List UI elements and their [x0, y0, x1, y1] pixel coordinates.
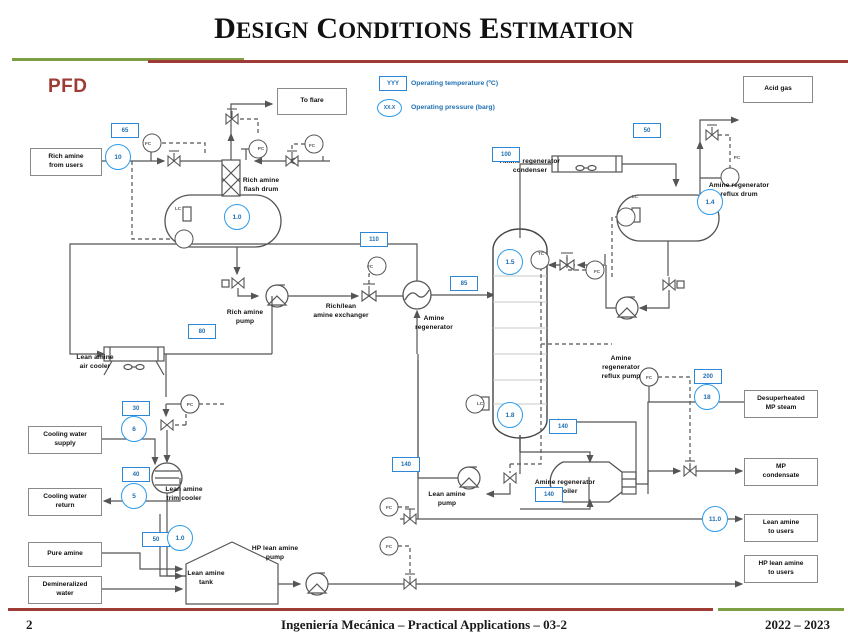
instrument-tag-pc-reflux-drum: PC — [730, 155, 744, 160]
equipment-label-lean-amine-tank: Lean aminetank — [161, 570, 251, 588]
footer-course: Ingeniería Mecánica – Practical Applicat… — [0, 617, 848, 633]
legend-press-symbol: XX.X — [377, 99, 402, 117]
pressure-tag-p-lean-amine-to-users: 11.0 — [702, 506, 728, 532]
instrument-tag-tc-regenerator-top: TC — [534, 251, 548, 256]
instrument-tag-lc-flash-drum: LC — [171, 206, 185, 211]
instrument-tag-pc-trim-cooler: PC — [183, 402, 197, 407]
pressure-tag-p-cooling-water-return: 5 — [121, 483, 147, 509]
instrument-tag-lc-regenerator-bottom: LC — [473, 401, 487, 406]
equipment-label-rich-amine-flash-drum: Rich amineflash drum — [216, 177, 306, 195]
instrument-bubble-lc-flash-drum — [175, 230, 193, 248]
stream-box-label: Rich aminefrom users — [48, 153, 83, 170]
divider-red-top — [148, 60, 848, 63]
equipment-label-rich-lean-amine-exchanger: Rich/leanamine exchanger — [296, 303, 386, 321]
instrument-tag-fc-mp-steam: FC — [642, 375, 656, 380]
pressure-tag-p-flash-drum: 1.0 — [224, 204, 250, 230]
stream-box-lean-amine-to-users: Lean amineto users — [744, 514, 818, 542]
stream-box-label: Pure amine — [47, 550, 83, 559]
instrument-bubble-lc-reflux-drum — [617, 208, 635, 226]
temperature-tag-t-reboiler-return: 140 — [549, 419, 577, 434]
temperature-tag-t-rich-lean-exchanger-out: 110 — [360, 232, 388, 247]
stream-box-demineralized-water: Demineralizedwater — [28, 576, 102, 604]
stream-box-to-flare: To flare — [277, 88, 347, 115]
legend-press-text: Operating pressure (barg) — [411, 104, 495, 111]
stream-box-label: MPcondensate — [763, 463, 800, 480]
temperature-tag-t-regenerator-overhead: 100 — [492, 147, 520, 162]
stream-box-label: DesuperheatedMP steam — [757, 395, 805, 412]
stream-box-label: Lean amineto users — [763, 519, 799, 536]
temperature-tag-t-lean-amine-tank: 50 — [142, 532, 170, 547]
equipment-label-lean-amine-pump: Lean aminepump — [402, 491, 492, 509]
stream-box-acid-gas: Acid gas — [743, 76, 813, 103]
stream-box-cooling-water-supply: Cooling watersupply — [28, 426, 102, 454]
equipment-label-lean-amine-air-cooler: Lean amineair cooler — [50, 354, 140, 372]
stream-box-label: Cooling waterreturn — [43, 493, 87, 510]
stream-box-rich-amine-from-users: Rich aminefrom users — [30, 148, 102, 176]
footer-year: 2022 – 2023 — [765, 617, 830, 633]
legend-temp-text: Operating temperature (ºC) — [411, 80, 498, 87]
temperature-tag-t-reboiler-supply: 140 — [535, 487, 563, 502]
equipment-label-amine-regenerator: Amineregenerator — [389, 315, 479, 333]
equipment-label-amine-regenerator-reboiler: Amine regeneratorreboiler — [520, 479, 610, 497]
pressure-tag-p-cooling-water-supply: 6 — [121, 416, 147, 442]
legend-temp-symbol: YYY — [379, 76, 407, 91]
stream-box-label: Acid gas — [764, 85, 791, 94]
instrument-tag-fc-flash-drum-gas: FC — [305, 143, 319, 148]
pressure-tag-p-lean-amine-tank: 1.0 — [167, 525, 193, 551]
title-word-1: DESIGN — [214, 12, 308, 45]
equipment-label-hp-lean-amine-pump: HP lean aminepump — [230, 545, 320, 563]
temperature-tag-t-rich-amine-feed: 65 — [111, 123, 139, 138]
stream-box-label: To flare — [300, 97, 323, 106]
stream-box-label: Cooling watersupply — [43, 431, 87, 448]
stream-box-pure-amine: Pure amine — [28, 542, 102, 567]
temperature-tag-t-cooling-water-supply: 30 — [122, 401, 150, 416]
divider-green-bottom — [718, 608, 844, 611]
instrument-tag-pc-flash-drum: PC — [254, 146, 268, 151]
page-title: DESIGN CONDITIONS ESTIMATION — [0, 12, 848, 46]
temperature-tag-t-mp-steam: 200 — [694, 369, 722, 384]
temperature-tag-t-air-cooler-out: 80 — [188, 324, 216, 339]
instrument-tag-fc-rich-lean-exchanger: FC — [363, 264, 377, 269]
title-word-2: CONDITIONS — [316, 12, 471, 45]
instrument-tag-fc-rich-amine-feed: FC — [141, 141, 155, 146]
temperature-tag-t-regenerator-bottom: 140 — [392, 457, 420, 472]
stream-box-label: Demineralizedwater — [43, 581, 88, 598]
pressure-tag-p-rich-amine-feed: 10 — [105, 144, 131, 170]
stream-box-hp-lean-amine-to-users: HP lean amineto users — [744, 555, 818, 583]
instrument-tag-fc-lean-amine-to-users: FC — [382, 505, 396, 510]
instrument-tag-fc-reflux: FC — [590, 269, 604, 274]
pressure-tag-p-reflux-drum: 1.4 — [697, 189, 723, 215]
instrument-tag-fc-hp-lean-amine: FC — [382, 544, 396, 549]
stream-box-label: HP lean amineto users — [759, 560, 804, 577]
equipment-label-lean-amine-trim-cooler: Lean aminetrim cooler — [139, 486, 229, 504]
divider-red-bottom — [8, 608, 713, 611]
pressure-tag-p-regenerator-bottom: 1.8 — [497, 402, 523, 428]
title-word-3: ESTIMATION — [479, 12, 634, 45]
stream-box-cooling-water-return: Cooling waterreturn — [28, 488, 102, 516]
temperature-tag-t-reflux-drum: 50 — [633, 123, 661, 138]
stream-box-desuperheated-mp-steam: DesuperheatedMP steam — [744, 390, 818, 418]
pressure-tag-p-mp-steam: 18 — [694, 384, 720, 410]
temperature-tag-t-regenerator-feed: 85 — [450, 276, 478, 291]
stream-box-mp-condensate: MPcondensate — [744, 458, 818, 486]
pressure-tag-p-regenerator-top: 1.5 — [497, 249, 523, 275]
temperature-tag-t-cooling-water-return: 40 — [122, 467, 150, 482]
instrument-tag-lc-reflux-drum: LC — [628, 194, 642, 199]
